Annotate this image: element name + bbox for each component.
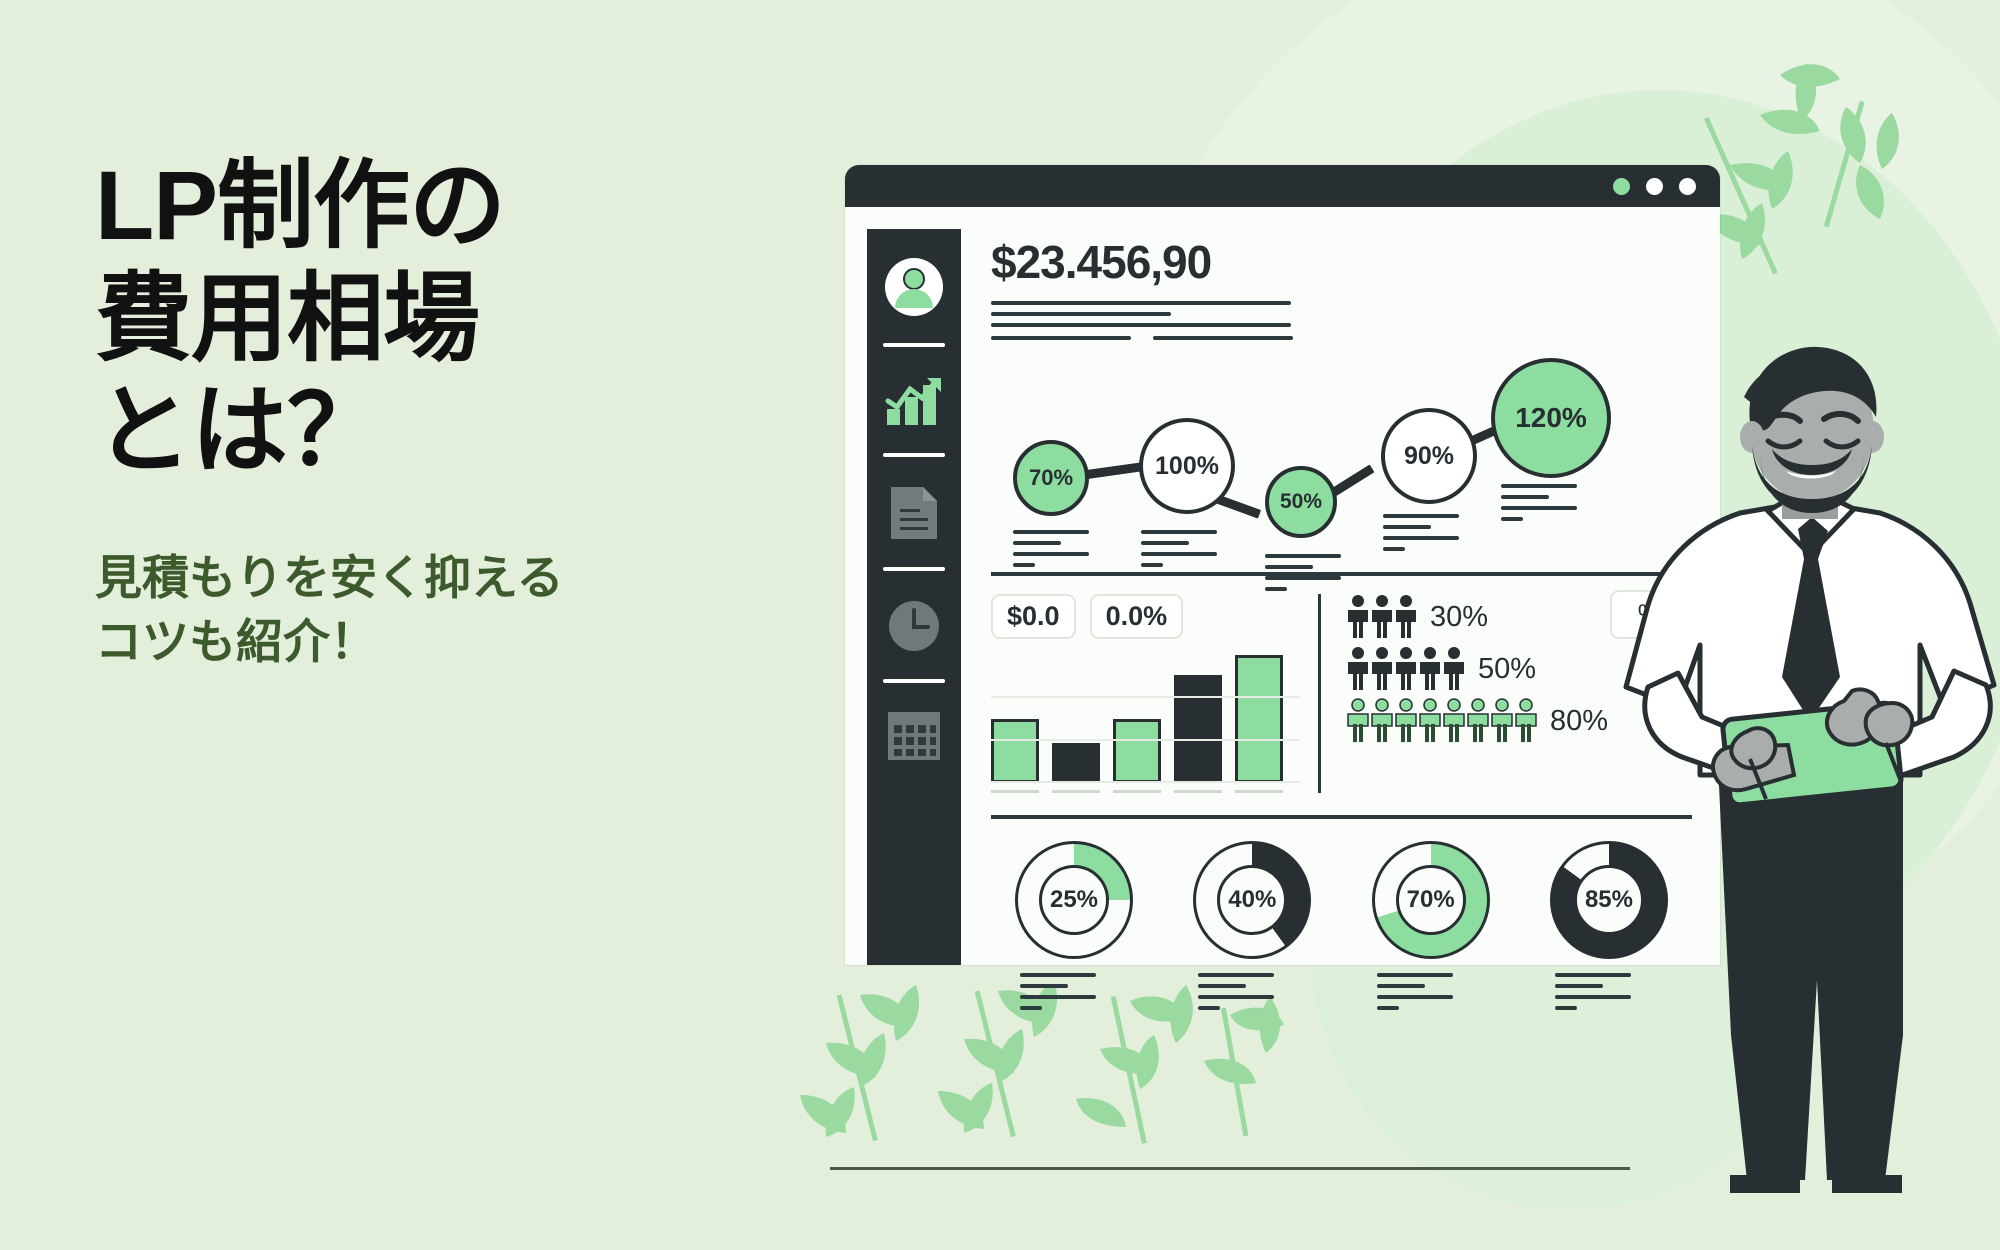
- bubble-node-2[interactable]: 100%: [1139, 418, 1235, 514]
- person-icon: [1443, 698, 1465, 744]
- person-icon: [1395, 698, 1417, 744]
- donut-label-3: 70%: [1407, 886, 1455, 914]
- donut-cell-2[interactable]: 40%: [1177, 841, 1327, 1017]
- sidebar-divider-2: [883, 453, 945, 457]
- person-icon: [1467, 698, 1489, 744]
- bar-4[interactable]: [1174, 675, 1222, 783]
- bubble-node-3[interactable]: 50%: [1265, 466, 1337, 538]
- sidebar: [867, 229, 961, 965]
- donut-gauge-row: 25% 40%: [991, 841, 1692, 1017]
- chip-amount[interactable]: $0.0: [991, 594, 1076, 639]
- document-icon: [889, 485, 939, 541]
- bubble-node-5-label: 120%: [1515, 402, 1587, 434]
- bubble-trend-chart: 70% 100% 50% 90% 120%: [991, 366, 1692, 566]
- person-icon: [1515, 698, 1537, 744]
- sidebar-item-history[interactable]: [882, 593, 946, 659]
- bubble-caption-2: [1141, 530, 1217, 574]
- bar-axis-ticks: [991, 790, 1300, 793]
- divider-bottom: [991, 815, 1692, 819]
- clock-icon: [887, 599, 941, 653]
- pictogram-icons-2: [1347, 646, 1465, 692]
- dashboard-window: $23.456,90 70%: [845, 165, 1720, 965]
- person-icon: [1347, 646, 1369, 692]
- bar-1[interactable]: [991, 719, 1039, 783]
- person-icon: [1371, 698, 1393, 744]
- window-dot-white-2-icon[interactable]: [1679, 178, 1696, 195]
- person-icon: [1491, 698, 1513, 744]
- page-subtitle: 見積もりを安く抑える コツも紹介！: [95, 546, 715, 676]
- divider-top: [991, 572, 1692, 576]
- bubble-node-1-label: 70%: [1029, 465, 1073, 491]
- person-icon: [1347, 594, 1369, 640]
- bar-3[interactable]: [1113, 719, 1161, 783]
- poster-canvas: LP制作の 費用相場 とは？ 見積もりを安く抑える コツも紹介！: [0, 0, 2000, 1250]
- donut-label-2: 40%: [1228, 886, 1276, 914]
- bubble-node-4[interactable]: 90%: [1381, 408, 1477, 504]
- pictogram-value-2: 50%: [1478, 653, 1536, 686]
- bar-2[interactable]: [1052, 743, 1100, 783]
- bubble-node-2-label: 100%: [1155, 452, 1219, 481]
- donut-caption-2: [1198, 973, 1306, 1017]
- person-icon: [1395, 646, 1417, 692]
- bubble-node-3-label: 50%: [1280, 490, 1322, 514]
- person-icon: [1419, 698, 1441, 744]
- pictogram-icons-1: [1347, 594, 1417, 640]
- window-dot-green-icon[interactable]: [1613, 178, 1630, 195]
- mini-bar-chart: [991, 655, 1300, 783]
- donut-caption-1: [1020, 973, 1128, 1017]
- bubble-caption-5: [1501, 484, 1577, 528]
- ground-line: [830, 1167, 1630, 1170]
- pictogram-value-1: 30%: [1430, 601, 1488, 634]
- bar-panel: $0.0 0.0%: [991, 594, 1321, 793]
- sidebar-item-documents[interactable]: [882, 479, 946, 547]
- window-body: $23.456,90 70%: [845, 207, 1720, 965]
- donut-caption-3: [1377, 973, 1485, 1017]
- chip-percent[interactable]: 0.0%: [1090, 594, 1184, 639]
- businessman-illustration: [1600, 345, 2000, 1195]
- middle-panels: $0.0 0.0%: [991, 594, 1692, 793]
- person-icon: [1371, 646, 1393, 692]
- sidebar-divider-1: [883, 343, 945, 347]
- metric-chips: $0.0 0.0%: [991, 594, 1300, 639]
- donut-label-1: 25%: [1050, 886, 1098, 914]
- bubble-node-4-label: 90%: [1404, 442, 1454, 471]
- donut-cell-1[interactable]: 25%: [999, 841, 1149, 1017]
- person-icon: [1419, 646, 1441, 692]
- sidebar-item-calendar[interactable]: [882, 705, 946, 767]
- bar-chart-growth-icon: [885, 375, 943, 427]
- window-titlebar: [845, 165, 1720, 207]
- bubble-node-5[interactable]: 120%: [1491, 358, 1611, 478]
- donut-cell-3[interactable]: 70%: [1356, 841, 1506, 1017]
- donut-chart-3[interactable]: 70%: [1372, 841, 1490, 959]
- amount-placeholder-lines: [991, 301, 1692, 352]
- window-dot-white-1-icon[interactable]: [1646, 178, 1663, 195]
- person-icon: [1371, 594, 1393, 640]
- donut-chart-1[interactable]: 25%: [1015, 841, 1133, 959]
- leaf-decoration-bottom: [800, 985, 1300, 1245]
- calendar-grid-icon: [887, 711, 941, 761]
- page-title: LP制作の 費用相場 とは？: [95, 150, 715, 488]
- bubble-caption-1: [1013, 530, 1089, 574]
- bubble-node-1[interactable]: 70%: [1013, 440, 1089, 516]
- person-icon: [1443, 646, 1465, 692]
- donut-chart-2[interactable]: 40%: [1193, 841, 1311, 959]
- sidebar-item-profile[interactable]: [882, 251, 946, 323]
- bubble-caption-4: [1383, 514, 1459, 558]
- person-icon: [1395, 594, 1417, 640]
- donut-label-4: 85%: [1585, 886, 1633, 914]
- sidebar-item-analytics[interactable]: [882, 369, 946, 433]
- bubble-caption-3: [1265, 554, 1341, 598]
- pictogram-icons-3: [1347, 698, 1537, 744]
- person-icon: [1347, 698, 1369, 744]
- sidebar-divider-3: [883, 567, 945, 571]
- copy-block: LP制作の 費用相場 とは？ 見積もりを安く抑える コツも紹介！: [95, 150, 715, 675]
- total-amount: $23.456,90: [991, 235, 1692, 289]
- user-avatar-icon: [884, 257, 944, 317]
- bar-5[interactable]: [1235, 655, 1283, 783]
- sidebar-divider-4: [883, 679, 945, 683]
